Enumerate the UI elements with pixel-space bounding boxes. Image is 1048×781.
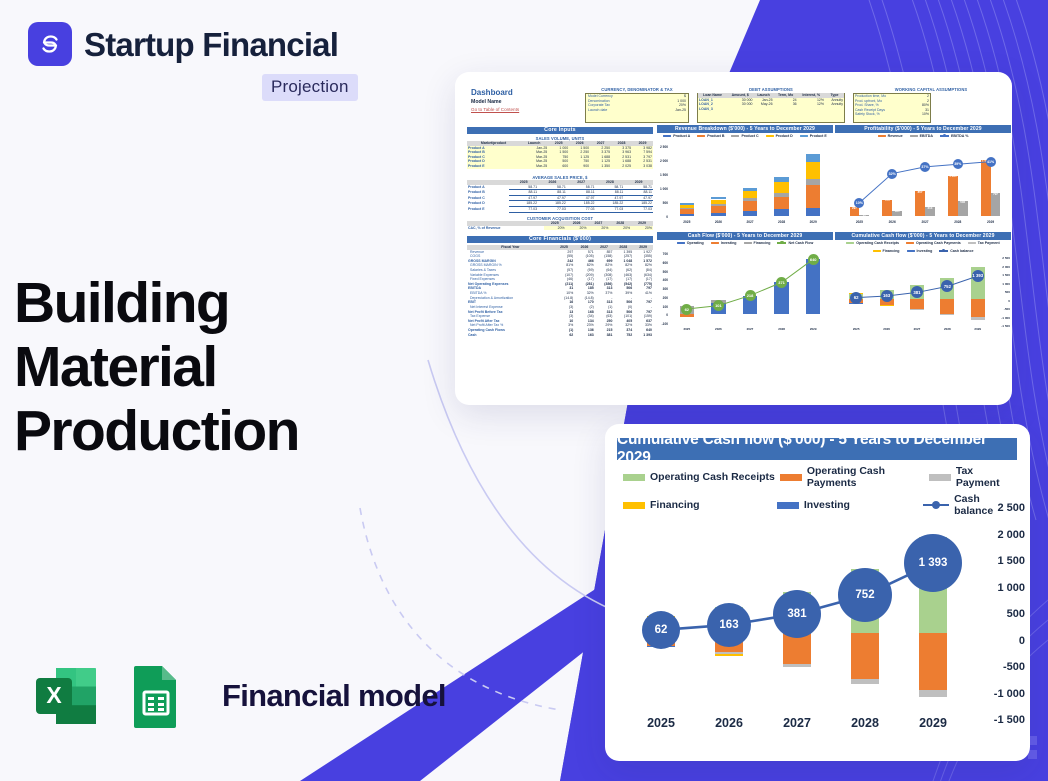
bar-segment xyxy=(743,198,758,201)
model-name-label: Model Name xyxy=(471,99,502,105)
table-row[interactable]: Cash621633817521 393 xyxy=(467,333,653,338)
legend-item: Product B xyxy=(697,134,724,138)
chart-title: Revenue Breakdown ($'000) - 5 Years to D… xyxy=(657,125,833,133)
bar-segment xyxy=(680,214,695,216)
y-tick-label: 1 000 xyxy=(660,187,668,191)
y-tick-label: 0 xyxy=(666,313,668,317)
x-tick-label: 2025 xyxy=(856,220,863,226)
legend-operating-cash-receipts: Operating Cash Receipts xyxy=(623,465,780,489)
bar-segment xyxy=(711,206,726,213)
bar-segment xyxy=(806,179,821,185)
table-row[interactable]: Product EMar-256009001 3502 0253 038 xyxy=(467,164,653,169)
dashboard-screenshot-card: Dashboard Model Name Go to Table of Cont… xyxy=(455,72,1012,405)
bar-segment xyxy=(774,193,789,197)
legend-item: Product A xyxy=(663,134,690,138)
cumulative-cash-flow-card: Cumulative Cash flow ($'000) - 5 Years t… xyxy=(605,424,1030,761)
legend-item: Product C xyxy=(731,134,758,138)
x-tick-label: 2027 xyxy=(921,220,928,226)
wc-rows: Production time, Mo2Prod. upfront, Mo2Pr… xyxy=(854,94,930,117)
headline-line-1: Building xyxy=(14,272,414,336)
y-tick-label: 500 xyxy=(1005,290,1010,294)
y-tick-label: 1 500 xyxy=(660,173,668,177)
x-tick-label: 2025 xyxy=(683,220,690,226)
legend-item: Revenue xyxy=(878,134,903,138)
x-tick-label: 2029 xyxy=(810,327,817,333)
cc-chart-title: Cumulative Cash flow ($'000) - 5 Years t… xyxy=(617,438,1017,460)
dashboard-sheet: Dashboard Model Name Go to Table of Cont… xyxy=(461,80,1006,399)
data-point-label: 32% xyxy=(887,169,897,179)
cc-x-axis: 20252026202720282029 xyxy=(627,716,967,734)
y-tick-label: -500 xyxy=(1004,307,1010,311)
y-tick-label: -1 000 xyxy=(1001,316,1010,320)
x-tick-label: 2026 xyxy=(715,220,722,226)
cac-rows: CAC, % of Revenue20%20%20%20%20% xyxy=(467,226,653,231)
legend-swatch xyxy=(780,474,802,481)
chart-legend: OperatingInvestingFinancingNet Cash Flow xyxy=(657,241,833,245)
legend-item: Operating xyxy=(677,241,704,245)
bar-segment xyxy=(806,208,821,216)
legend-item-line: EBITDA % xyxy=(940,134,968,138)
brand-name: Startup Financial xyxy=(84,28,338,61)
cc-x-tick-label: 2025 xyxy=(631,716,691,730)
data-point-label: 62 xyxy=(850,292,862,304)
chart-plot-area: 62101218371640 xyxy=(671,254,829,323)
table-row[interactable]: Safety Stock, %10% xyxy=(854,112,930,117)
working-capital-section-header: WORKING CAPITAL ASSUMPTIONS xyxy=(851,87,1011,92)
chart-legend: Product AProduct BProduct CProduct DProd… xyxy=(657,134,833,138)
chart-cash-flow: Cash Flow ($'000) - 5 Years to December … xyxy=(657,232,833,335)
sales-volume-rows: Product AJan-251 0001 5002 2503 3753 982… xyxy=(467,146,653,169)
chart-x-axis: 20252026202720282029 xyxy=(843,220,1007,226)
y-tick-label: 2 500 xyxy=(1002,256,1010,260)
x-tick-label: 2028 xyxy=(778,220,785,226)
debt-table[interactable]: Loan NameAmount, $LaunchTerm, MoInterest… xyxy=(698,93,844,111)
y-tick-label: 0 xyxy=(1008,299,1010,303)
table-row[interactable]: Product E77.0377.0377.0377.0377.03 xyxy=(467,207,653,213)
chart-legend: Operating Cash ReceiptsOperating Cash Pa… xyxy=(835,241,1011,253)
bar-segment xyxy=(711,197,726,199)
chart-profitability: Profitability ($'000) - 5 Years to Decem… xyxy=(835,125,1011,228)
cc-y-tick-label: -1 500 xyxy=(994,714,1025,726)
average-price-table[interactable]: 20252026202720282029 Product A58.7158.71… xyxy=(467,180,653,213)
bar-segment xyxy=(711,204,726,206)
sales-volume-table[interactable]: Market/productLaunch20252026202720282029… xyxy=(467,141,653,169)
cc-y-tick-label: 500 xyxy=(1007,608,1025,620)
x-tick-label: 2027 xyxy=(746,220,753,226)
y-tick-label: 300 xyxy=(663,287,668,291)
debt-section-header: DEBT ASSUMPTIONS xyxy=(696,87,846,92)
data-point-label: 371 xyxy=(776,277,787,288)
debt-rows: LOAN_130 000Jan-252412%AnnuityLOAN_230 0… xyxy=(698,98,844,112)
data-point-label: 218 xyxy=(745,290,756,301)
data-point-label: 1 393 xyxy=(972,270,984,282)
x-tick-label: 2025 xyxy=(853,327,860,333)
legend-item: Operating Cash Receipts xyxy=(846,241,899,245)
cc-data-point-label: 163 xyxy=(707,603,751,647)
bar-segment xyxy=(806,162,821,178)
y-tick-label: 700 xyxy=(663,252,668,256)
x-tick-label: 2028 xyxy=(944,327,951,333)
y-tick-label: 600 xyxy=(663,261,668,265)
currency-rows: Model Currency$Denomination1 000Corporat… xyxy=(587,94,687,112)
chart-title: Cash Flow ($'000) - 5 Years to December … xyxy=(657,232,833,240)
cc-x-tick-label: 2026 xyxy=(699,716,759,730)
cc-dots: 621633817521 393 xyxy=(627,508,967,708)
core-financials-table[interactable]: Fiscal Year20252026202720282029 Revenue2… xyxy=(467,245,653,337)
legend-item-line: Net Cash Flow xyxy=(777,241,813,245)
working-capital-table[interactable]: Production time, Mo2Prod. upfront, Mo2Pr… xyxy=(854,94,930,117)
y-tick-label: 2 000 xyxy=(660,159,668,163)
data-point-label: 37% xyxy=(920,162,930,172)
table-row[interactable]: Launch dateJan-25 xyxy=(587,108,687,113)
x-tick-label: 2028 xyxy=(778,327,785,333)
chart-cumulative-cash-flow-mini: Cumulative Cash flow ($'000) - 5 Years t… xyxy=(835,232,1011,335)
cc-data-point-label: 752 xyxy=(838,568,892,622)
table-row[interactable]: CAC, % of Revenue20%20%20%20%20% xyxy=(467,226,653,231)
financial-model-label: Financial model xyxy=(222,678,446,714)
y-tick-label: 0 xyxy=(666,215,668,219)
chart-plot-area: 621633817521 393 xyxy=(841,258,993,323)
bar-segment xyxy=(774,209,789,216)
bar-segment xyxy=(743,211,758,216)
legend-swatch xyxy=(929,474,951,481)
legend-item: Financing xyxy=(873,249,900,253)
headline-line-3: Production xyxy=(14,400,414,464)
legend-item: Tax Payment xyxy=(968,241,1000,245)
legend-item: EBITDA xyxy=(910,134,933,138)
bar-segment xyxy=(680,203,695,205)
legend-line-marker xyxy=(923,504,949,507)
data-point-label: 163 xyxy=(881,290,893,302)
cc-plot-area: 621633817521 393 xyxy=(627,508,967,708)
x-tick-label: 2027 xyxy=(914,327,921,333)
legend-item: Investing xyxy=(711,241,737,245)
chart-title: Profitability ($'000) - 5 Years to Decem… xyxy=(835,125,1011,133)
chart-x-axis: 20252026202720282029 xyxy=(671,327,829,333)
dashboard-title: Dashboard xyxy=(471,88,513,97)
x-tick-label: 2026 xyxy=(883,327,890,333)
trend-line xyxy=(671,254,829,323)
cc-y-tick-label: -1 000 xyxy=(994,688,1025,700)
table-row[interactable]: LOAN_3 xyxy=(698,107,844,112)
bar-segment xyxy=(680,208,695,209)
data-point-label: 101 xyxy=(713,300,724,311)
x-tick-label: 2025 xyxy=(683,327,690,333)
legend-operating-cash-payments: Operating Cash Payments xyxy=(780,465,929,489)
bar-segment xyxy=(806,185,821,208)
data-point-label: 62 xyxy=(681,304,692,315)
price-rows: Product A58.7158.7158.7158.7158.71Produc… xyxy=(467,185,653,213)
currency-table[interactable]: Model Currency$Denomination1 000Corporat… xyxy=(587,94,687,112)
bar-segment xyxy=(743,201,758,211)
bar-segment xyxy=(774,177,789,182)
x-tick-label: 2026 xyxy=(715,327,722,333)
y-tick-label: 500 xyxy=(663,201,668,205)
cc-data-point-label: 1 393 xyxy=(904,534,962,592)
svg-text:X: X xyxy=(46,682,62,708)
cac-table[interactable]: 20252026202720282029 CAC, % of Revenue20… xyxy=(467,221,653,230)
brand-subtitle-wrap: Projection xyxy=(262,74,358,101)
x-tick-label: 2027 xyxy=(747,327,754,333)
cc-y-tick-label: 2 000 xyxy=(997,529,1025,541)
legend-item: Operating Cash Payments xyxy=(906,241,961,245)
chart-plot-area xyxy=(671,147,829,216)
page-title: Building Material Production xyxy=(14,272,414,463)
core-financials-band: Core Financials ($'000) xyxy=(467,236,653,243)
bar-segment xyxy=(743,188,758,192)
cc-y-tick-label: 0 xyxy=(1019,635,1025,647)
bar-segment xyxy=(680,209,695,214)
headline-line-2: Material xyxy=(14,336,414,400)
x-tick-label: 2029 xyxy=(810,220,817,226)
bar-segment xyxy=(680,205,695,208)
cc-x-tick-label: 2029 xyxy=(903,716,963,730)
e-swirl-icon xyxy=(28,22,72,66)
legend-item: Product D xyxy=(766,134,793,138)
brand-logo: Startup Financial xyxy=(28,22,338,66)
brand-subtitle: Projection xyxy=(262,74,358,101)
x-tick-label: 2026 xyxy=(889,220,896,226)
chart-legend: RevenueEBITDAEBITDA % xyxy=(835,134,1011,138)
legend-swatch xyxy=(623,474,645,481)
cc-y-tick-label: 1 500 xyxy=(997,555,1025,567)
currency-section-header: CURRENCY, DENOMINATOR & TAX xyxy=(581,87,693,92)
bar-segment xyxy=(774,182,789,193)
google-sheets-icon xyxy=(120,660,192,732)
table-of-contents-link[interactable]: Go to Table of Contents xyxy=(471,107,519,112)
bar-segment xyxy=(743,191,758,198)
y-tick-label: 200 xyxy=(663,296,668,300)
microsoft-excel-icon: X xyxy=(30,660,102,732)
chart-x-axis: 20252026202720282029 xyxy=(841,327,993,333)
cc-y-tick-label: -500 xyxy=(1003,661,1025,673)
legend-item: Product E xyxy=(800,134,827,138)
data-point-label: 41% xyxy=(986,157,996,167)
y-tick-label: 1 000 xyxy=(1002,282,1010,286)
x-tick-label: 2028 xyxy=(954,220,961,226)
format-badges: X Financial model xyxy=(30,660,446,732)
chart-title: Cumulative Cash flow ($'000) - 5 Years t… xyxy=(835,232,1011,240)
chart-x-axis: 20252026202720282029 xyxy=(671,220,829,226)
y-tick-label: 2 000 xyxy=(1002,265,1010,269)
data-point-label: 640 xyxy=(808,254,819,265)
sales-volume-header-row: Market/productLaunch20252026202720282029 xyxy=(467,141,653,146)
y-tick-label: 500 xyxy=(663,270,668,274)
x-tick-label: 2029 xyxy=(974,327,981,333)
x-tick-label: 2029 xyxy=(987,220,994,226)
y-tick-label: 400 xyxy=(663,278,668,282)
cc-x-tick-label: 2027 xyxy=(767,716,827,730)
bar-segment xyxy=(711,213,726,216)
y-tick-label: 1 500 xyxy=(1002,273,1010,277)
chart-revenue-breakdown: Revenue Breakdown ($'000) - 5 Years to D… xyxy=(657,125,833,228)
bar-segment xyxy=(806,154,821,162)
bar-segment xyxy=(711,200,726,205)
cc-data-point-label: 381 xyxy=(773,590,821,638)
y-tick-label: -1 500 xyxy=(1001,324,1010,328)
trend-line xyxy=(843,147,1007,216)
y-tick-label: -100 xyxy=(662,322,668,326)
cc-y-tick-label: 1 000 xyxy=(997,582,1025,594)
cc-x-tick-label: 2028 xyxy=(835,716,895,730)
legend-item: Financing xyxy=(744,241,771,245)
legend-item: Investing xyxy=(907,249,933,253)
bar-segment xyxy=(774,197,789,209)
chart-plot-area: 297315711858573131 3955061 92779710%32%3… xyxy=(843,147,1007,216)
core-financial-rows: Revenue2975718571 3951 927COGS(55)(105)(… xyxy=(467,250,653,338)
y-tick-label: 100 xyxy=(663,305,668,309)
data-point-label: 39% xyxy=(953,159,963,169)
y-tick-label: 2 500 xyxy=(660,145,668,149)
legend-tax-payment: Tax Payment xyxy=(929,465,1018,489)
cc-y-tick-label: 2 500 xyxy=(997,502,1025,514)
poster-canvas: Startup Financial Projection Building Ma… xyxy=(0,0,1048,781)
legend-item-line: Cash balance xyxy=(939,249,973,253)
core-inputs-band: Core Inputs xyxy=(467,127,653,134)
cc-y-axis: 2 5002 0001 5001 0005000-500-1 000-1 500 xyxy=(977,502,1025,714)
cc-data-point-label: 62 xyxy=(642,611,680,649)
